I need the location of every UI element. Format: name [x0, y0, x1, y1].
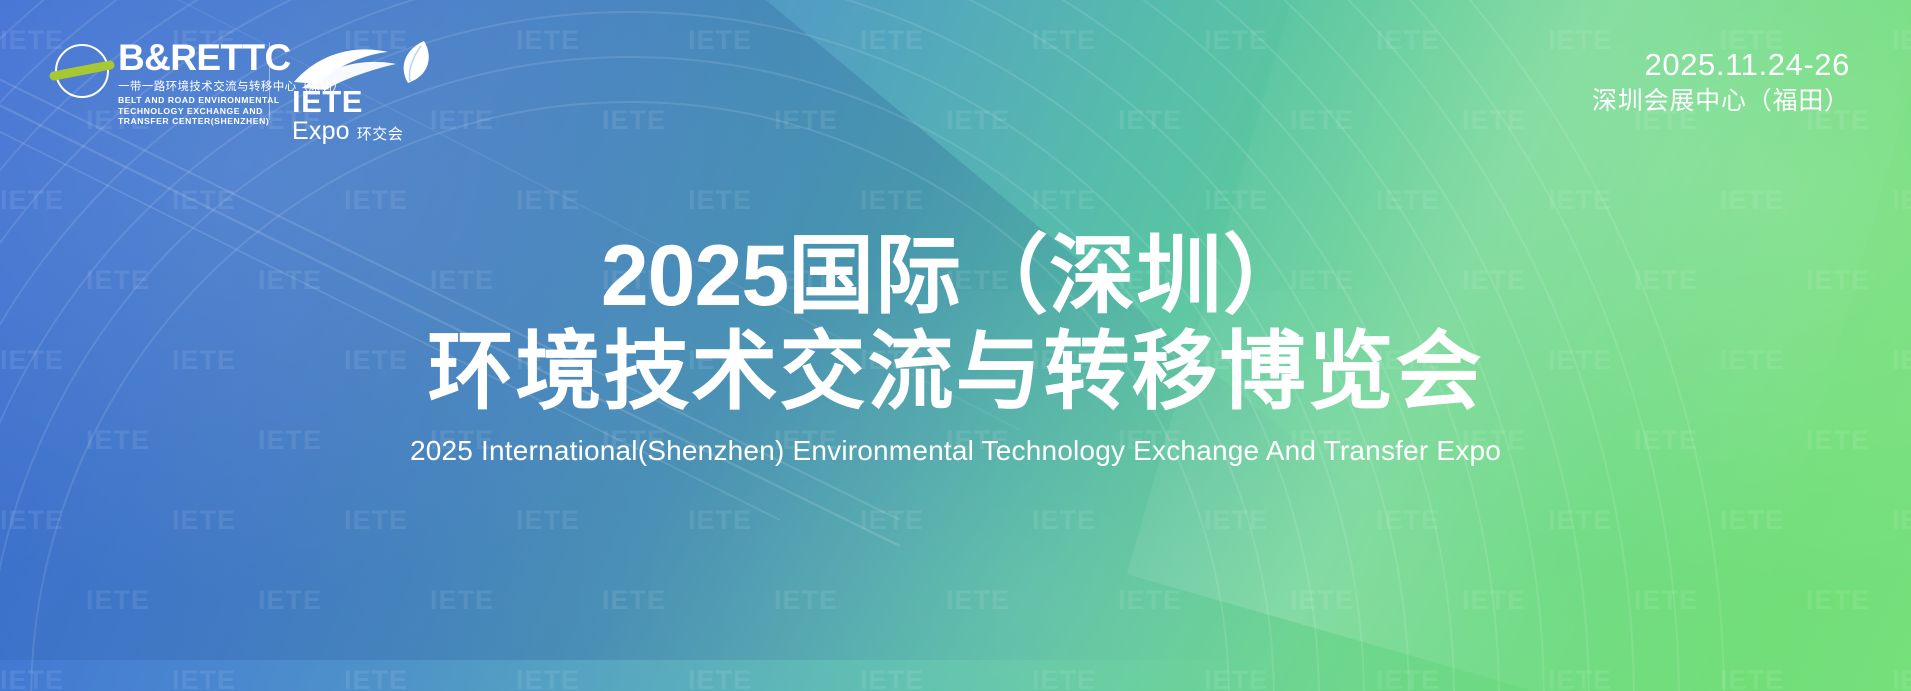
logo-divider [269, 42, 270, 120]
title-line-2: 环境技术交流与转移博览会 [0, 322, 1911, 422]
event-date: 2025.11.24-26 [1592, 46, 1850, 84]
title-line-1: 2025国际（深圳） [0, 228, 1911, 324]
iete-acronym: IETE [292, 87, 434, 117]
iete-expo-logo[interactable]: IETE Expo 环交会 [292, 38, 434, 144]
event-banner: IETEIETEIETEIETEIETEIETEIETEIETEIETEIETE… [0, 0, 1911, 691]
wave-leaf-icon [292, 38, 432, 90]
title-block: 2025国际（深圳） 环境技术交流与转移博览会 2025 Internation… [0, 228, 1911, 470]
title-line-1-rest: 国际（深圳） [788, 226, 1310, 326]
iete-expo-label: Expo [292, 118, 350, 144]
event-meta: 2025.11.24-26 深圳会展中心（福田） [1592, 46, 1850, 118]
title-year: 2025 [601, 228, 788, 324]
brettc-english-name: BELT AND ROAD ENVIRONMENTAL TECHNOLOGY E… [118, 95, 290, 127]
iete-chinese-short: 环交会 [357, 124, 404, 144]
event-venue: 深圳会展中心（福田） [1592, 84, 1850, 118]
globe-ring-icon [55, 44, 109, 98]
title-subtitle-en: 2025 International(Shenzhen) Environment… [0, 432, 1911, 470]
